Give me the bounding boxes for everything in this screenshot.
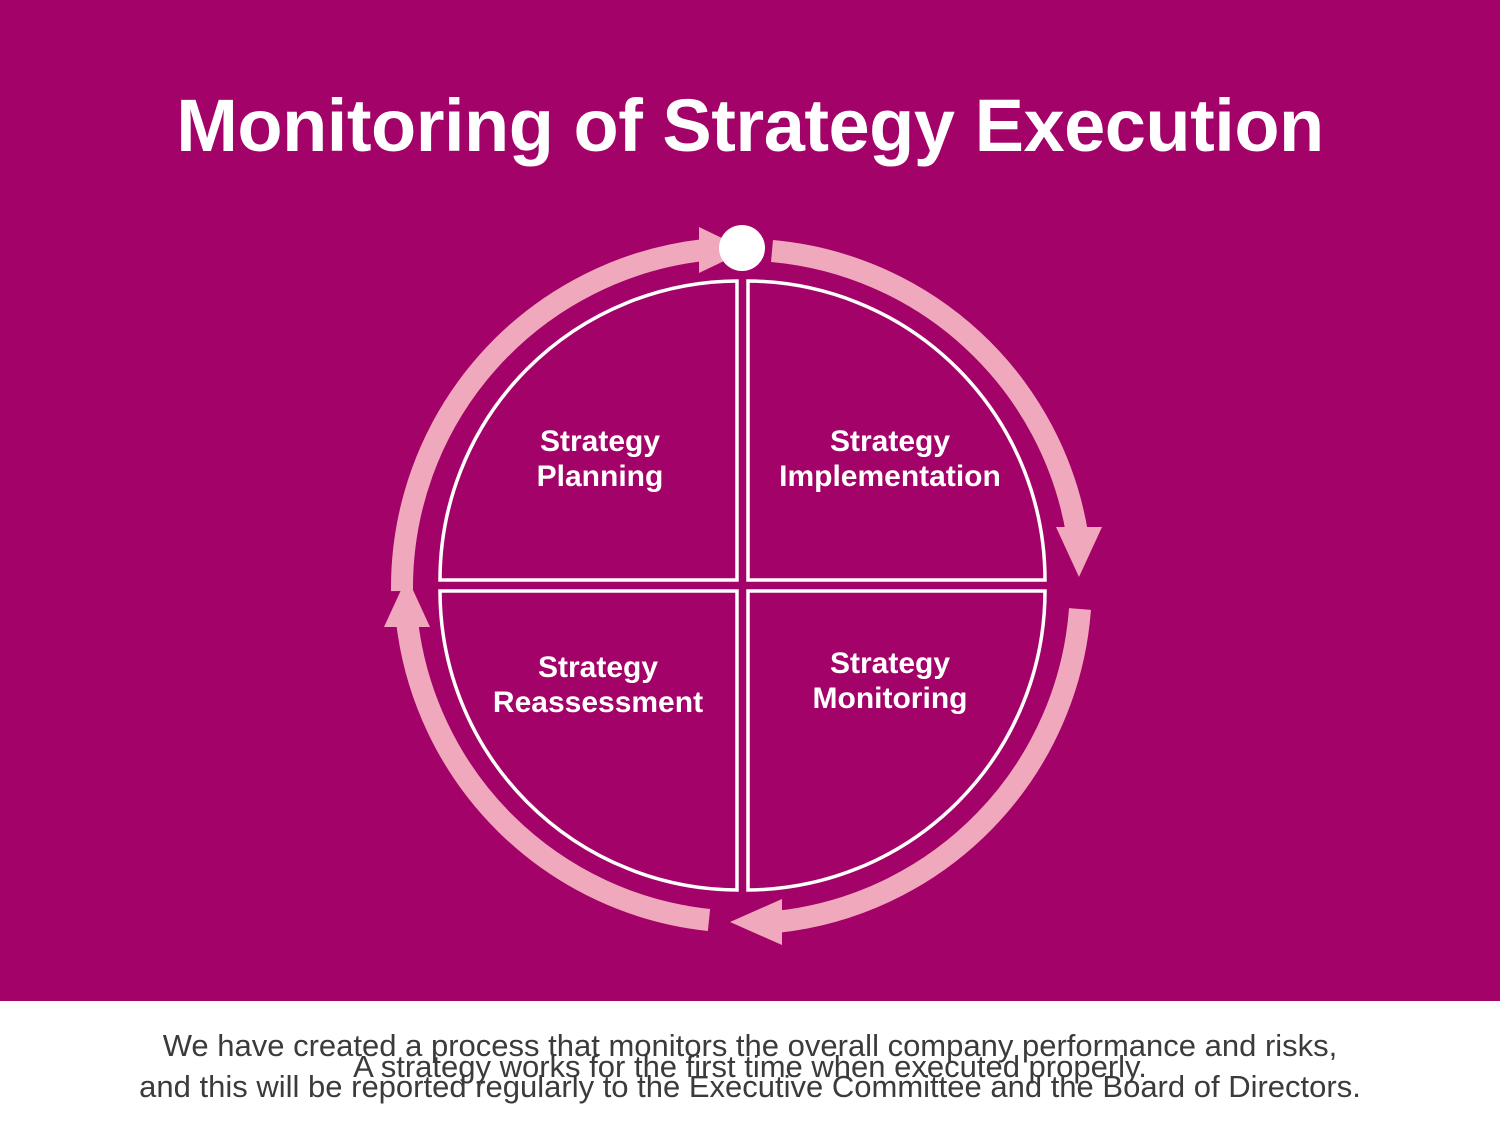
cycle-arrow-ring: [384, 227, 1102, 945]
slide-canvas: Monitoring of Strategy Execution: [0, 0, 1500, 1125]
quadrant-label-planning-line2: Planning: [537, 460, 664, 493]
caption-area: We have created a process that monitors …: [0, 1001, 1500, 1125]
cycle-arrow-right: [772, 251, 1102, 577]
cycle-arrow-top: [402, 227, 747, 591]
quadrant-label-monitoring: Strategy Monitoring: [730, 646, 1050, 716]
quadrant-outline-reassessment: [440, 591, 737, 890]
quadrant-label-planning-line1: Strategy: [540, 425, 660, 458]
quadrant-label-implementation-line1: Strategy: [830, 425, 950, 458]
quadrant-label-planning: Strategy Planning: [440, 424, 760, 494]
caption-overlay: A strategy works for the first time when…: [0, 1046, 1500, 1087]
quadrant-label-implementation-line2: Implementation: [779, 460, 1001, 493]
quadrant-outline-monitoring: [748, 591, 1045, 890]
cycle-arrow-left: [384, 577, 709, 920]
caption-overlay-line: A strategy works for the first time when…: [0, 1046, 1500, 1087]
quadrant-label-reassessment-line1: Strategy: [538, 651, 658, 684]
page-title: Monitoring of Strategy Execution: [0, 83, 1500, 169]
strategy-cycle-diagram: [372, 215, 1112, 955]
quadrant-label-reassessment-line2: Reassessment: [493, 686, 703, 719]
quadrant-label-monitoring-line1: Strategy: [830, 647, 950, 680]
quadrant-wedges: [440, 281, 1045, 890]
quadrant-label-implementation: Strategy Implementation: [730, 424, 1050, 494]
quadrant-label-reassessment: Strategy Reassessment: [418, 650, 778, 720]
quadrant-label-monitoring-line2: Monitoring: [813, 682, 968, 715]
cycle-start-dot: [719, 225, 765, 271]
